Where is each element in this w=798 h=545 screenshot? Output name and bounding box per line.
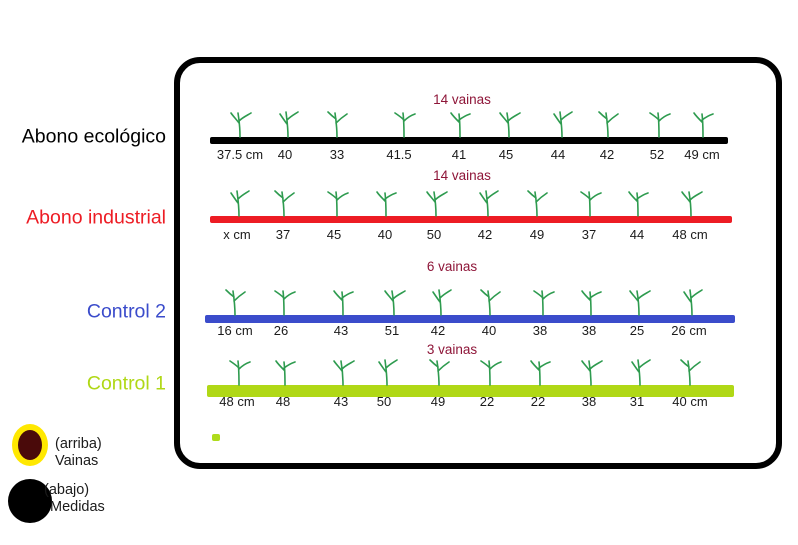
legend-label-vainas: (arriba) Vainas	[55, 436, 102, 470]
diagram-canvas: Abono ecológico Abono industrial Control…	[0, 0, 798, 545]
legend-title-medidas: Medidas	[44, 499, 105, 516]
legend-position-note-vainas: (arriba)	[55, 436, 102, 453]
legend-position-note-medidas: (abajo)	[44, 482, 105, 499]
legend: (arriba) Vainas (abajo) Medidas	[0, 0, 798, 545]
legend-label-medidas: (abajo) Medidas	[44, 482, 105, 516]
legend-title-vainas: Vainas	[55, 453, 102, 470]
legend-swatch-vainas-icon	[12, 424, 48, 466]
